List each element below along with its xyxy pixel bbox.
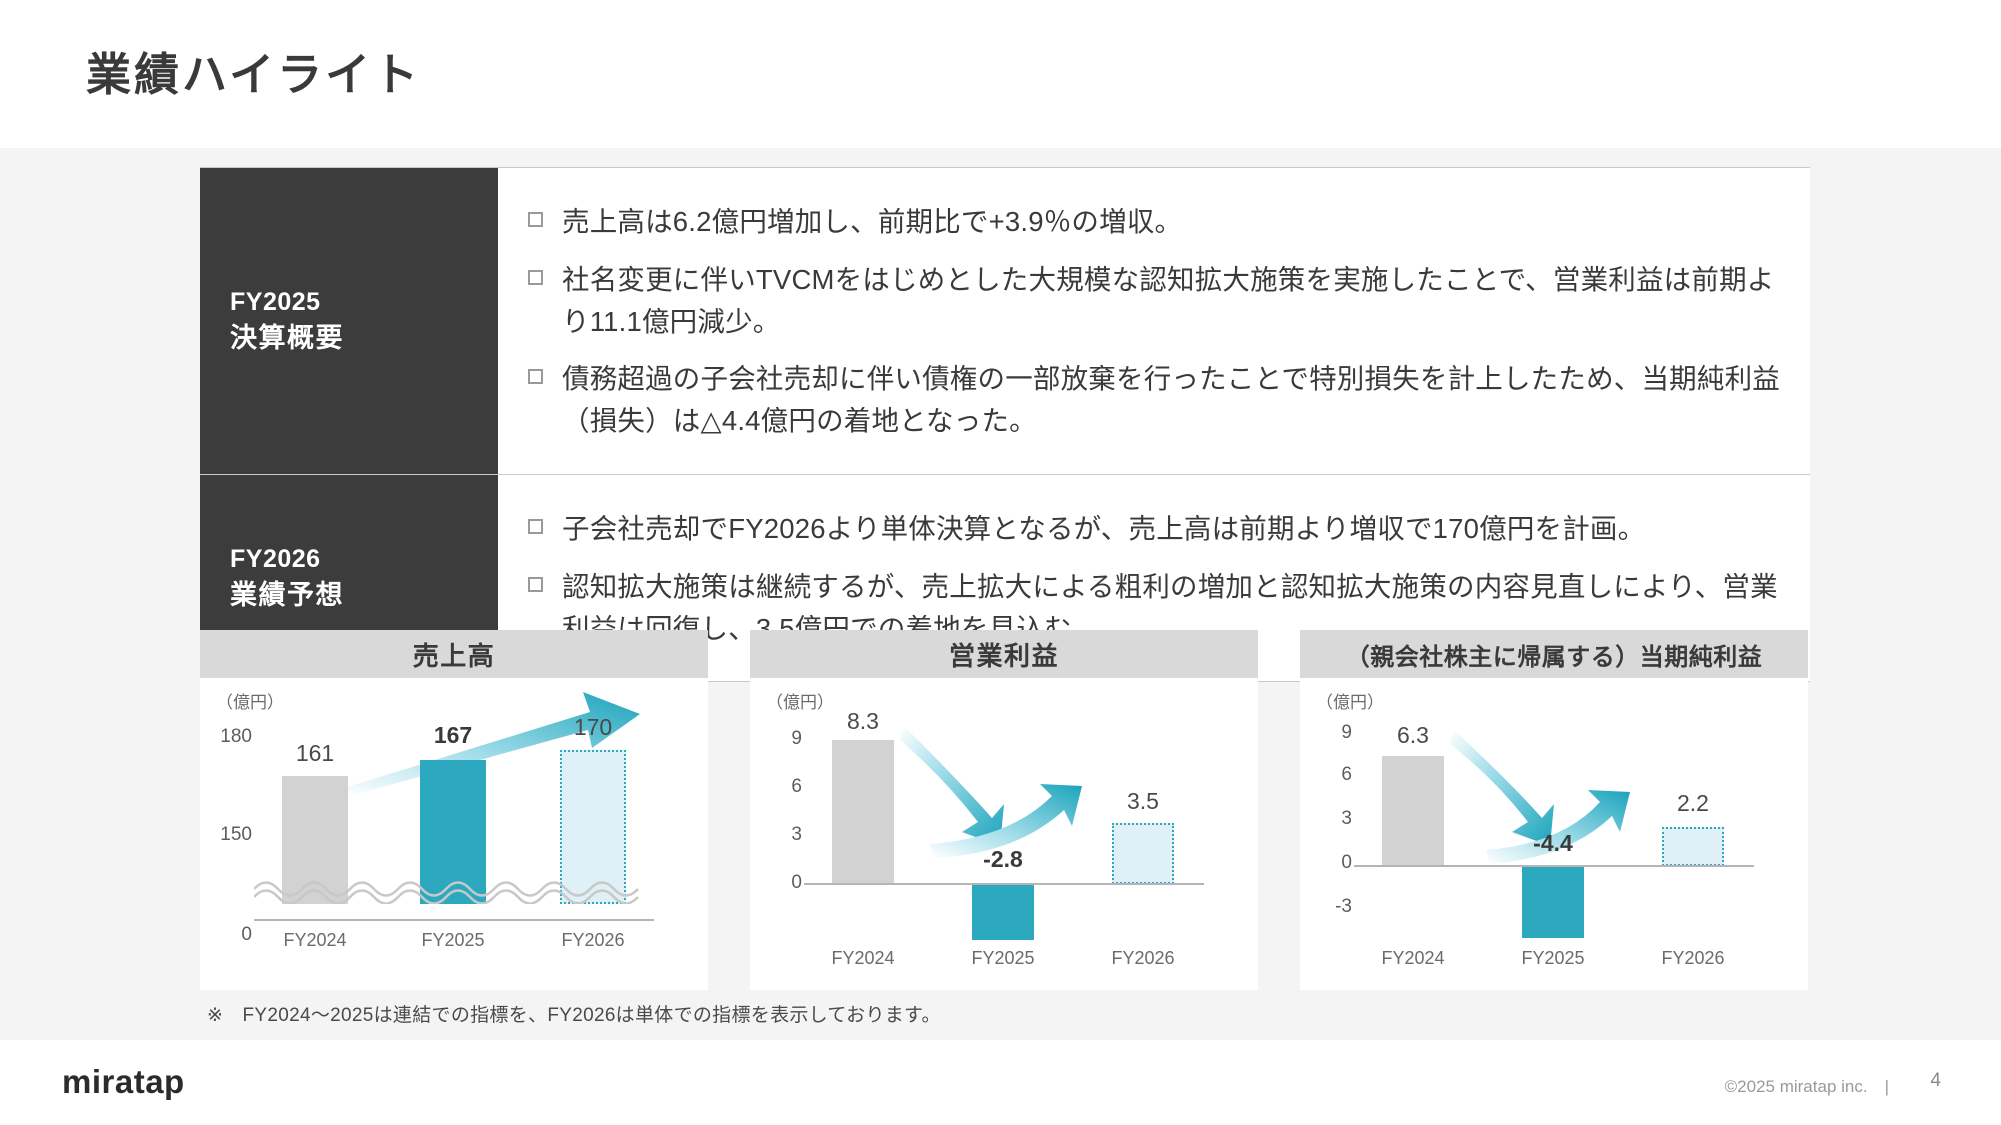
chart-title: 営業利益 bbox=[750, 630, 1258, 678]
zero-axis-line bbox=[804, 883, 1204, 885]
chart-plot-net-income: （億円） 9 6 3 0 -3 bbox=[1300, 678, 1808, 990]
brand-logo: miratap bbox=[62, 1063, 185, 1101]
summary-table: FY2025 決算概要 売上高は6.2億円増加し、前期比で+3.9％の増収。 社… bbox=[200, 167, 1810, 682]
value-label-fy2026: 2.2 bbox=[1633, 790, 1753, 817]
chart-plot-revenue: （億円） 180 150 0 bbox=[200, 678, 708, 990]
y-axis-tick: 9 bbox=[756, 728, 802, 750]
value-label-fy2026: 170 bbox=[533, 714, 653, 741]
y-axis-tick: 180 bbox=[206, 726, 252, 748]
bullet-text: 債務超過の子会社売却に伴い債権の一部放棄を行ったことで特別損失を計上したため、当… bbox=[562, 358, 1784, 442]
list-item: 子会社売却でFY2026より単体決算となるが、売上高は前期より増収で170億円を… bbox=[528, 508, 1784, 550]
title-bar: 業績ハイライト bbox=[0, 0, 2001, 148]
bar-fy2025 bbox=[972, 884, 1034, 940]
page-title: 業績ハイライト bbox=[86, 38, 421, 103]
y-axis-tick: 3 bbox=[1306, 808, 1352, 830]
slide-root: 業績ハイライト FY2025 決算概要 売上高は6.2億円増加し、前期比で+3.… bbox=[0, 0, 2001, 1125]
charts-row: 売上高 （億円） 180 150 0 bbox=[200, 630, 1810, 990]
value-label-fy2025: 167 bbox=[393, 722, 513, 749]
y-axis-tick: 6 bbox=[756, 776, 802, 798]
bullet-text: 社名変更に伴いTVCMをはじめとした大規模な認知拡大施策を実施したことで、営業利… bbox=[562, 259, 1784, 343]
footnote: ※ FY2024〜2025は連結での指標を、FY2026は単体での指標を表示して… bbox=[207, 1000, 941, 1027]
chart-unit-label: （億円） bbox=[216, 688, 284, 713]
y-axis-tick: 150 bbox=[206, 824, 252, 846]
copyright-text: ©2025 miratap inc. | bbox=[1725, 1072, 1889, 1097]
value-label-fy2024: 161 bbox=[255, 740, 375, 767]
chart-card-net-income: （親会社株主に帰属する）当期純利益 （億円） 9 6 3 0 -3 bbox=[1300, 630, 1808, 990]
list-item: 債務超過の子会社売却に伴い債権の一部放棄を行ったことで特別損失を計上したため、当… bbox=[528, 358, 1784, 442]
square-bullet-icon bbox=[528, 369, 543, 384]
bar-fy2026 bbox=[1662, 827, 1724, 866]
chart-unit-label: （億円） bbox=[1316, 688, 1384, 713]
square-bullet-icon bbox=[528, 577, 543, 592]
value-label-fy2026: 3.5 bbox=[1083, 788, 1203, 815]
chart-plot-operating-profit: （億円） 9 6 3 0 bbox=[750, 678, 1258, 990]
footer bbox=[0, 1040, 2001, 1125]
x-axis-label-fy2025: FY2025 bbox=[1493, 948, 1613, 969]
chart-title: 売上高 bbox=[200, 630, 708, 678]
square-bullet-icon bbox=[528, 519, 543, 534]
y-axis-tick: 6 bbox=[1306, 764, 1352, 786]
zero-axis-line bbox=[1354, 865, 1754, 867]
x-axis-label-fy2024: FY2024 bbox=[803, 948, 923, 969]
bar-fy2026 bbox=[1112, 823, 1174, 884]
value-label-fy2025: -2.8 bbox=[943, 846, 1063, 873]
value-label-fy2024: 8.3 bbox=[803, 708, 923, 735]
bar-fy2025 bbox=[1522, 866, 1584, 938]
row-label-line1: FY2025 bbox=[230, 285, 498, 320]
y-axis-tick: -3 bbox=[1306, 896, 1352, 918]
bullet-text: 子会社売却でFY2026より単体決算となるが、売上高は前期より増収で170億円を… bbox=[562, 508, 1645, 550]
y-axis-tick: 0 bbox=[206, 924, 252, 946]
y-axis-tick: 0 bbox=[756, 872, 802, 894]
x-axis-label-fy2024: FY2024 bbox=[1353, 948, 1473, 969]
x-axis-label-fy2026: FY2026 bbox=[1633, 948, 1753, 969]
bar-fy2024 bbox=[1382, 756, 1444, 866]
x-axis-line bbox=[254, 919, 654, 921]
bar-fy2024 bbox=[832, 740, 894, 884]
table-row: FY2025 決算概要 売上高は6.2億円増加し、前期比で+3.9％の増収。 社… bbox=[200, 167, 1810, 475]
row-label-line2: 業績予想 bbox=[230, 577, 498, 614]
list-item: 売上高は6.2億円増加し、前期比で+3.9％の増収。 bbox=[528, 201, 1784, 243]
value-label-fy2025: -4.4 bbox=[1493, 830, 1613, 857]
x-axis-label-fy2024: FY2024 bbox=[255, 930, 375, 951]
x-axis-label-fy2025: FY2025 bbox=[943, 948, 1063, 969]
page-number: 4 bbox=[1930, 1070, 1941, 1092]
square-bullet-icon bbox=[528, 270, 543, 285]
chart-title: （親会社株主に帰属する）当期純利益 bbox=[1300, 630, 1808, 678]
axis-break-wave-icon bbox=[254, 874, 654, 904]
y-axis-tick: 0 bbox=[1306, 852, 1352, 874]
chart-card-revenue: 売上高 （億円） 180 150 0 bbox=[200, 630, 708, 990]
row-label-line2: 決算概要 bbox=[230, 320, 498, 357]
row-body-fy2025: 売上高は6.2億円増加し、前期比で+3.9％の増収。 社名変更に伴いTVCMをは… bbox=[498, 168, 1810, 474]
y-axis-tick: 9 bbox=[1306, 722, 1352, 744]
row-label-line1: FY2026 bbox=[230, 542, 498, 577]
chart-card-operating-profit: 営業利益 （億円） 9 6 3 0 bbox=[750, 630, 1258, 990]
square-bullet-icon bbox=[528, 212, 543, 227]
value-label-fy2024: 6.3 bbox=[1353, 722, 1473, 749]
x-axis-label-fy2025: FY2025 bbox=[393, 930, 513, 951]
list-item: 社名変更に伴いTVCMをはじめとした大規模な認知拡大施策を実施したことで、営業利… bbox=[528, 259, 1784, 343]
x-axis-label-fy2026: FY2026 bbox=[533, 930, 653, 951]
x-axis-label-fy2026: FY2026 bbox=[1083, 948, 1203, 969]
bullet-text: 売上高は6.2億円増加し、前期比で+3.9％の増収。 bbox=[562, 201, 1182, 243]
y-axis-tick: 3 bbox=[756, 824, 802, 846]
row-label-fy2025: FY2025 決算概要 bbox=[200, 168, 498, 474]
